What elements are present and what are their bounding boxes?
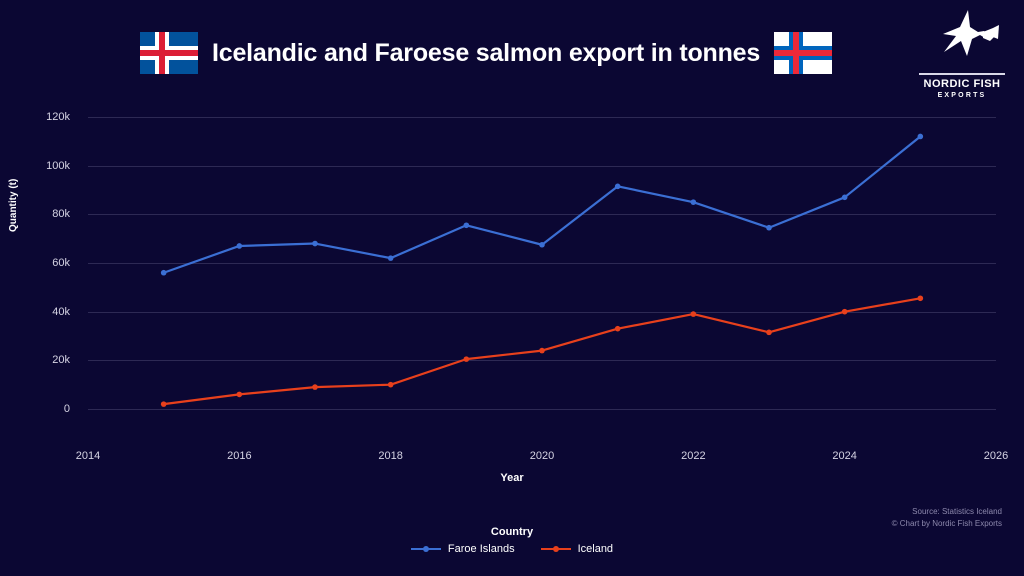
y-axis-tick-label: 20k bbox=[16, 354, 70, 366]
y-axis-tick-label: 40k bbox=[16, 306, 70, 318]
legend-item-label: Iceland bbox=[578, 543, 613, 555]
legend-swatch-icon bbox=[411, 544, 441, 554]
data-point[interactable] bbox=[918, 134, 924, 140]
data-point[interactable] bbox=[161, 401, 167, 407]
legend-items: Faroe IslandsIceland bbox=[0, 543, 1024, 555]
chart-area: Quantity (t) 020k40k60k80k100k120k 20142… bbox=[0, 0, 1024, 576]
data-point[interactable] bbox=[766, 225, 772, 231]
x-axis-tick-label: 2014 bbox=[76, 450, 100, 462]
data-point[interactable] bbox=[312, 241, 318, 247]
gridline bbox=[88, 312, 996, 313]
y-axis-tick-label: 120k bbox=[16, 111, 70, 123]
gridline bbox=[88, 263, 996, 264]
legend-item-label: Faroe Islands bbox=[448, 543, 515, 555]
x-axis-tick-label: 2024 bbox=[832, 450, 856, 462]
data-point[interactable] bbox=[842, 195, 848, 201]
y-axis-tick-label: 60k bbox=[16, 257, 70, 269]
gridline bbox=[88, 360, 996, 361]
legend-swatch-icon bbox=[541, 544, 571, 554]
source-attribution: Source: Statistics Iceland © Chart by No… bbox=[892, 506, 1002, 530]
x-axis-tick-label: 2018 bbox=[378, 450, 402, 462]
y-axis-tick-label: 100k bbox=[16, 160, 70, 172]
source-line-1: Source: Statistics Iceland bbox=[892, 506, 1002, 518]
y-axis-tick-label: 80k bbox=[16, 208, 70, 220]
x-axis-tick-label: 2022 bbox=[681, 450, 705, 462]
data-point[interactable] bbox=[539, 242, 545, 248]
legend-title: Country bbox=[0, 526, 1024, 538]
gridline bbox=[88, 117, 996, 118]
data-point[interactable] bbox=[766, 330, 772, 336]
legend: Country Faroe IslandsIceland bbox=[0, 526, 1024, 555]
series-line bbox=[164, 298, 921, 404]
x-axis-tick-label: 2016 bbox=[227, 450, 251, 462]
legend-item[interactable]: Faroe Islands bbox=[411, 543, 515, 555]
legend-item[interactable]: Iceland bbox=[541, 543, 613, 555]
x-axis-tick-label: 2020 bbox=[530, 450, 554, 462]
gridline bbox=[88, 166, 996, 167]
y-axis-ticks: 020k40k60k80k100k120k bbox=[16, 0, 70, 576]
data-point[interactable] bbox=[539, 348, 545, 354]
data-point[interactable] bbox=[918, 295, 924, 301]
data-point[interactable] bbox=[312, 384, 318, 390]
source-line-2: © Chart by Nordic Fish Exports bbox=[892, 518, 1002, 530]
x-axis-title: Year bbox=[0, 472, 1024, 484]
data-point[interactable] bbox=[237, 392, 243, 398]
data-point[interactable] bbox=[464, 222, 470, 228]
data-point[interactable] bbox=[615, 326, 621, 332]
data-point[interactable] bbox=[691, 199, 697, 205]
gridline bbox=[88, 409, 996, 410]
data-point[interactable] bbox=[388, 382, 394, 388]
data-point[interactable] bbox=[161, 270, 167, 276]
series-lines bbox=[0, 0, 1024, 576]
data-point[interactable] bbox=[615, 184, 621, 190]
y-axis-tick-label: 0 bbox=[16, 403, 70, 415]
x-axis-tick-label: 2026 bbox=[984, 450, 1008, 462]
data-point[interactable] bbox=[388, 255, 394, 261]
gridline bbox=[88, 214, 996, 215]
series-line bbox=[164, 136, 921, 272]
data-point[interactable] bbox=[237, 243, 243, 249]
